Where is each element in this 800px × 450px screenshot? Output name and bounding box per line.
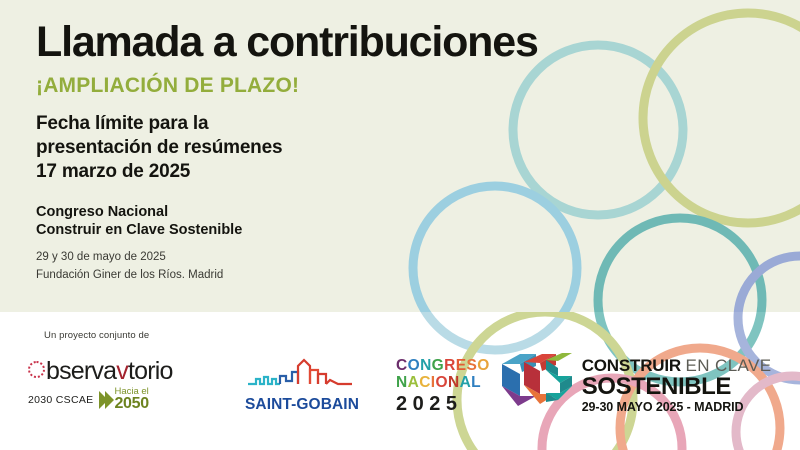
congress-dates-line: 29-30 MAYO 2025 - MADRID (582, 401, 772, 414)
deadline-line-1: Fecha límite para la (36, 112, 696, 136)
congreso-word: CONGRESO (396, 358, 490, 374)
dotted-circle-icon (28, 361, 45, 378)
event-line-1: Congreso Nacional (36, 203, 696, 222)
hacia-year: 2050 (114, 396, 148, 412)
page-title: Llamada a contribuciones (36, 20, 696, 66)
event-venue: Fundación Giner de los Ríos. Madrid (36, 267, 696, 285)
event-line-2: Construir en Clave Sostenible (36, 221, 696, 240)
deadline-extension-badge: ¡AMPLIACIÓN DE PLAZO! (36, 74, 696, 98)
construir-line: CONSTRUIR EN CLAVE (582, 357, 772, 374)
observatorio-logo: bservavtorio 2030 CSCAE Hacia el 2050 (28, 359, 206, 413)
construir-clave-sostenible-logo: CONSTRUIR EN CLAVE SOSTENIBLE 29-30 MAYO… (582, 357, 772, 414)
hacia-2050-mark: Hacia el 2050 (114, 387, 148, 413)
skyline-icon (234, 358, 370, 390)
deadline-line-2: presentación de resúmenes (36, 136, 696, 160)
deadline-line-3: 17 marzo de 2025 (36, 160, 696, 184)
observatorio-subline: 2030 CSCAE Hacia el 2050 (28, 387, 206, 413)
saint-gobain-logo: SAINT-GOBAIN (234, 358, 370, 414)
saint-gobain-wordmark: SAINT-GOBAIN (234, 396, 370, 414)
event-name: Congreso Nacional Construir en Clave Sos… (36, 203, 696, 241)
observatorio-word-b: torio (128, 359, 173, 384)
double-chevron-icon (99, 391, 111, 409)
event-dates: 29 y 30 de mayo de 2025 (36, 249, 696, 267)
ccs-cube-icon (500, 352, 574, 414)
partner-logos: bservavtorio 2030 CSCAE Hacia el 2050 (28, 352, 772, 419)
poster-canvas: Llamada a contribuciones ¡AMPLIACIÓN DE … (0, 0, 800, 450)
deadline-text: Fecha límite para la presentación de res… (36, 112, 696, 185)
headline-block: Llamada a contribuciones ¡AMPLIACIÓN DE … (36, 20, 696, 285)
nacional-word: NACIONAL (396, 375, 490, 391)
observatorio-wordmark: bservavtorio (28, 359, 206, 384)
observatorio-red-letter: v (116, 359, 128, 384)
partners-label: Un proyecto conjunto de (44, 330, 149, 341)
observatorio-subtitle: 2030 CSCAE (28, 394, 93, 406)
congreso-nacional-logo: CONGRESO NACIONAL 2025 (396, 358, 490, 414)
ccs-mark-logo (500, 352, 574, 419)
sostenible-line: SOSTENIBLE (582, 375, 772, 399)
observatorio-word-a: bserva (46, 359, 116, 384)
congreso-year: 2025 (396, 394, 490, 414)
